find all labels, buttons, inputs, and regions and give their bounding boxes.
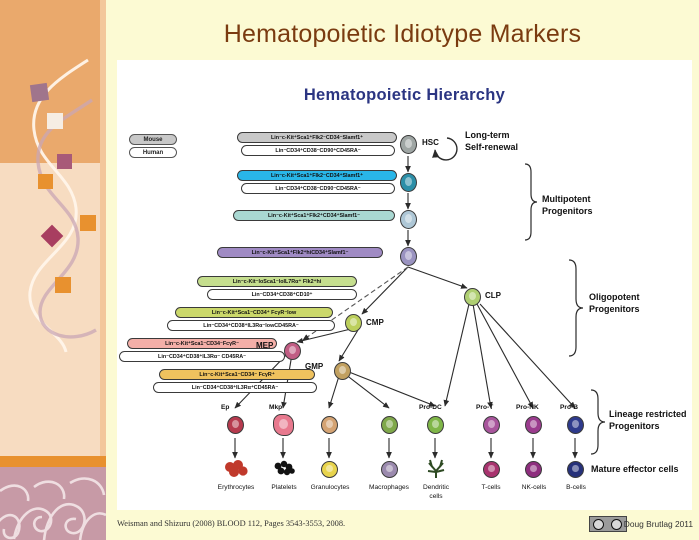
label-line-2: Self-renewal [465, 142, 518, 152]
cc-circle-right [611, 519, 622, 530]
mature-macrophage-icon [381, 461, 398, 478]
cc-circle-left [593, 519, 604, 530]
marker-pill-mpp1-mouse: Lin⁻c-Kit⁺Sca1⁺Flk2⁻CD34⁺Slamf1⁺ [237, 170, 397, 181]
node-pro-dc [427, 416, 444, 434]
node-ep [227, 416, 244, 434]
node-pro-nk [525, 416, 542, 434]
marker-pill-mpp1-human: Lin⁻CD34⁺CD38⁻CD90⁻CD45RA⁻ [241, 183, 395, 194]
node-label-clp: CLP [485, 291, 501, 300]
node-gmp [334, 362, 351, 380]
label-line-2: Progenitors [542, 206, 593, 216]
sidebar-floral-band [0, 467, 106, 540]
sidebar-square-2 [47, 113, 63, 129]
node-mpp2 [400, 210, 417, 229]
legend-human-label: Human [143, 150, 163, 156]
node-granulocyte-progenitor [321, 416, 338, 434]
marker-pill-mpp2-mouse: Lin⁻c-Kit⁺Sca1⁺Flk2⁺CD34⁺Slamf1⁻ [233, 210, 395, 221]
label-line-1: Mature effector cells [591, 464, 679, 474]
mature-dendritic-icon [425, 458, 447, 480]
node-label-hsc: HSC [422, 138, 439, 147]
page-title: Hematopoietic Idiotype Markers [106, 20, 699, 49]
label-lineage-restricted: Lineage restricted Progenitors [609, 409, 687, 432]
label-line-1: Lineage restricted [609, 409, 687, 419]
lineage-label-pro-b: Pro-B [560, 404, 578, 411]
node-pro-b [567, 416, 584, 434]
sidebar-square-6 [55, 277, 71, 293]
node-label-gmp: GMP [305, 362, 323, 371]
creative-commons-badge [589, 516, 627, 532]
node-cmp [345, 314, 362, 332]
lineage-label-ep: Ep [221, 404, 229, 411]
lineage-label-pro-nk: Pro-NK [516, 404, 539, 411]
caption-t-cells: T-cells [469, 484, 513, 491]
caption-dendritic-2: cells [414, 493, 458, 500]
marker-pill-hsc-human: Lin⁻CD34⁺CD38⁻CD90⁺CD45RA⁻ [241, 145, 395, 156]
node-macrophage-progenitor [381, 416, 398, 434]
marker-pill-gmp-human: Lin⁻CD34⁺CD38⁺IL3Rα⁺CD45RA⁻ [153, 382, 317, 393]
marker-pill-cmp-human: Lin⁻CD34⁺CD38⁺IL3Rα⁻lowCD45RA⁻ [167, 320, 335, 331]
node-mpp3 [400, 247, 417, 266]
mature-erythrocytes-icon [223, 460, 249, 478]
decorative-sidebar [0, 0, 106, 540]
label-self-renewal: Long-term Self-renewal [465, 130, 518, 153]
marker-pill-clp-mouse: Lin⁻c-Kit⁻loSca1⁻loIL7Rα⁺ Flk2⁺hi [197, 276, 357, 287]
marker-text: Lin⁻c-Kit⁺Sca1⁺Flk2⁺hiCD34⁺Slamf1⁻ [252, 250, 349, 256]
mature-platelets-icon [273, 460, 295, 478]
marker-text: Lin⁻c-Kit⁺Sca1⁻CD34⁺ FcγR⁻low [212, 310, 296, 316]
mature-granulocyte-icon [321, 461, 338, 478]
node-pro-t [483, 416, 500, 434]
marker-pill-hsc-mouse: Lin⁻c-Kit⁺Sca1⁺Flk2⁻CD34⁻Slamf1⁺ [237, 132, 397, 143]
sidebar-square-1 [30, 83, 49, 102]
node-mep [284, 342, 301, 360]
node-clp [464, 288, 481, 306]
marker-text: Lin⁻c-Kit⁺Sca1⁺Flk2⁻CD34⁺Slamf1⁺ [271, 173, 363, 179]
marker-pill-mep-human: Lin⁻CD34⁺CD38⁺IL3Rα⁻ CD45RA⁻ [119, 351, 285, 362]
lineage-label-pro-dc: Pro-DC [419, 404, 442, 411]
caption-dendritic: Dendritic [414, 484, 458, 491]
caption-granulocytes: Granulocytes [301, 484, 359, 491]
label-multipotent: Multipotent Progenitors [542, 194, 593, 217]
sidebar-square-3 [57, 154, 72, 169]
marker-text: Lin⁻c-Kit⁺Sca1⁺Flk2⁻CD34⁻Slamf1⁺ [271, 135, 363, 141]
marker-text: Lin⁻CD34⁺CD38⁺IL3Rα⁺CD45RA⁻ [192, 385, 278, 391]
citation-text: Weisman and Shizuru (2008) BLOOD 112, Pa… [117, 519, 345, 528]
marker-pill-cmp-mouse: Lin⁻c-Kit⁺Sca1⁻CD34⁺ FcγR⁻low [175, 307, 333, 318]
label-line-2: Progenitors [589, 304, 640, 314]
sidebar-square-5 [80, 215, 96, 231]
legend-mouse: Mouse [129, 134, 177, 145]
footer: Weisman and Shizuru (2008) BLOOD 112, Pa… [106, 510, 699, 540]
lineage-label-pro-t: Pro-T [476, 404, 493, 411]
label-oligopotent: Oligopotent Progenitors [589, 292, 640, 315]
marker-text: Lin⁻c-Kit⁺Sca1⁻CD34⁻FcγR⁻ [165, 341, 239, 347]
mature-nk-cell-icon [525, 461, 542, 478]
sidebar-orange-stripe [0, 456, 106, 467]
marker-text: Lin⁻CD34⁺CD38⁺IL3Rα⁻ CD45RA⁻ [158, 354, 246, 360]
caption-nk-cells: NK-cells [511, 484, 557, 491]
title-bar: Hematopoietic Idiotype Markers [106, 0, 699, 58]
caption-b-cells: B-cells [554, 484, 598, 491]
label-line-1: Long-term [465, 130, 510, 140]
legend-mouse-label: Mouse [143, 137, 162, 143]
node-label-mep: MEP [256, 341, 273, 350]
label-line-1: Multipotent [542, 194, 591, 204]
lineage-label-mkp: Mkp [269, 404, 282, 411]
node-label-cmp: CMP [366, 318, 384, 327]
marker-pill-mep-mouse: Lin⁻c-Kit⁺Sca1⁻CD34⁻FcγR⁻ [127, 338, 277, 349]
mature-t-cell-icon [483, 461, 500, 478]
marker-text: Lin⁻c-Kit⁻loSca1⁻loIL7Rα⁺ Flk2⁺hi [233, 279, 322, 285]
caption-macrophages: Macrophages [359, 484, 419, 491]
marker-text: Lin⁻CD34⁺CD38⁻CD90⁻CD45RA⁻ [275, 186, 360, 192]
marker-text: Lin⁻c-Kit⁺Sca1⁻CD34⁻ FcγR⁺ [199, 372, 274, 378]
credit-text: Doug Brutlag 2011 [624, 519, 693, 529]
diagram-panel: Hematopoietic Hierarchy [117, 60, 692, 510]
label-line-2: Progenitors [609, 421, 660, 431]
label-line-1: Oligopotent [589, 292, 640, 302]
marker-text: Lin⁻CD34⁺CD38⁺CD10⁺ [252, 292, 313, 298]
node-mpp1 [400, 173, 417, 192]
node-mkp [273, 414, 294, 436]
marker-text: Lin⁻CD34⁺CD38⁻CD90⁺CD45RA⁻ [275, 148, 360, 154]
legend-human: Human [129, 147, 177, 158]
marker-pill-gmp-mouse: Lin⁻c-Kit⁺Sca1⁻CD34⁻ FcγR⁺ [159, 369, 315, 380]
marker-pill-clp-human: Lin⁻CD34⁺CD38⁺CD10⁺ [207, 289, 357, 300]
mature-b-cell-icon [567, 461, 584, 478]
marker-text: Lin⁻CD34⁺CD38⁺IL3Rα⁻lowCD45RA⁻ [203, 323, 298, 329]
caption-erythrocytes: Erythrocytes [209, 484, 263, 491]
marker-text: Lin⁻c-Kit⁺Sca1⁺Flk2⁺CD34⁺Slamf1⁻ [268, 213, 360, 219]
sidebar-square-4 [38, 174, 53, 189]
label-mature-effector: Mature effector cells [591, 464, 679, 476]
marker-pill-mpp3-mouse: Lin⁻c-Kit⁺Sca1⁺Flk2⁺hiCD34⁺Slamf1⁻ [217, 247, 383, 258]
node-hsc [400, 135, 417, 154]
